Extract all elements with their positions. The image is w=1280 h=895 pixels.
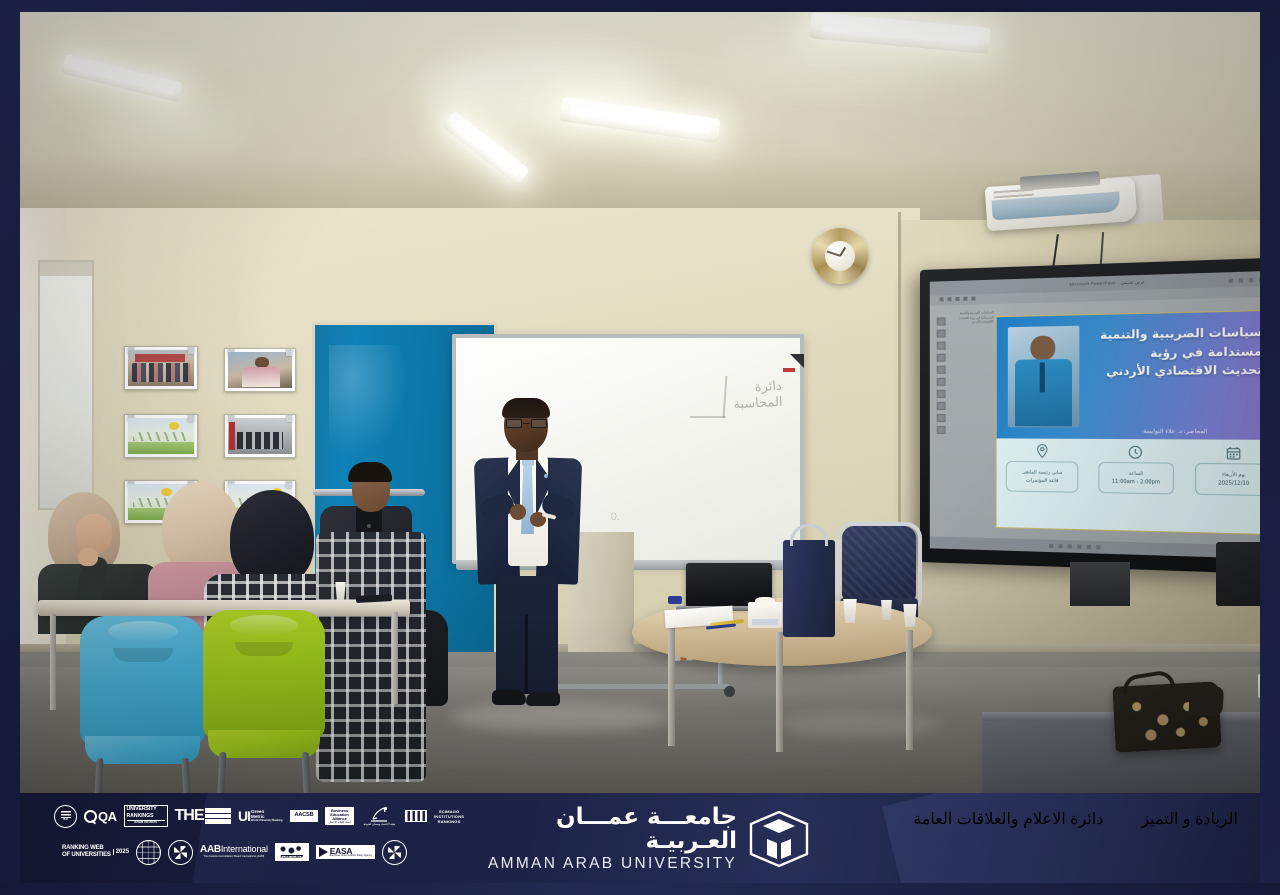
slide-info-time: الساعة 11:00am - 2:00pm: [1093, 444, 1179, 495]
table-leg: [668, 626, 675, 746]
lecture-title-slide: السياسات الضريبية والتنمية المستدامة في …: [996, 310, 1260, 536]
classroom-photograph: دائرة المحاسبة 0.: [20, 12, 1260, 793]
accreditation-logo-strip: ISO QA UNIVERSITY RANKINGS ARAB REGION T…: [54, 799, 434, 877]
slide-info-label: يوم الأربعاء: [1222, 473, 1246, 481]
easa-logo: EASA European Union Aviation Safety Agen…: [316, 845, 375, 860]
qs-university-rankings-logo: UNIVERSITY RANKINGS ARAB REGION: [124, 805, 168, 827]
slide-title: السياسات الضريبية والتنمية المستدامة في …: [1088, 323, 1260, 382]
ranking-web-of-universities-logo: RANKING WEB OF UNIVERSITIES 2025: [62, 845, 129, 858]
wall-picture-frame: [224, 414, 296, 458]
slogan-group: دائرة الاعلام والعلاقات العامة الريادة و…: [913, 809, 1238, 829]
seated-student: [316, 532, 426, 782]
location-pin-icon: [1001, 443, 1084, 460]
navy-tote-bag: [783, 540, 835, 637]
application-status-bar[interactable]: [930, 536, 1260, 560]
globe-accreditation-logo: [136, 840, 161, 865]
iso-circle-logo: ISO: [54, 805, 77, 828]
university-logo-lockup: جامعـــة عمـــان العـربيـة AMMAN ARAB UN…: [488, 811, 808, 867]
desk-leg: [50, 614, 56, 710]
display-wall-mount: [1070, 562, 1130, 606]
slogan-text: الريادة و التميز: [1141, 809, 1238, 829]
wall-clock-icon: [812, 228, 868, 284]
wall-picture-frame: [224, 348, 296, 392]
quality-badge-logo: [382, 840, 407, 865]
wall-picture-frame: [124, 414, 198, 458]
chair-green[interactable]: [203, 610, 325, 793]
slide-info-value: 11:00am - 2:00pm: [1112, 480, 1160, 486]
slide-info-value: 2025/12/10: [1218, 481, 1249, 487]
slide-info-value: قاعة المؤتمرات: [1026, 478, 1058, 484]
cube-logo: [747, 809, 811, 869]
business-education-alliance-logo: Business Education Alliance اتحاد كليات …: [325, 807, 353, 826]
slide-info-box: يوم الأربعاء 2025/12/10: [1194, 463, 1260, 496]
slide-info-date: يوم الأربعاء 2025/12/10: [1189, 444, 1260, 497]
desk-clip: [668, 596, 682, 604]
slide-hero-band: السياسات الضريبية والتنمية المستدامة في …: [997, 311, 1260, 441]
department-label: دائرة الاعلام والعلاقات العامة: [913, 809, 1103, 829]
table-leg: [776, 632, 783, 752]
qa-logo: QA: [84, 810, 117, 823]
slide-lecturer-line: المحاضر: د. علاء النوايسة: [1088, 428, 1260, 435]
wall-mounted-projector: [986, 172, 1174, 240]
whiteboard-marker: [783, 368, 795, 372]
calendar-icon: [1189, 444, 1260, 462]
university-name-english: AMMAN ARAB UNIVERSITY: [488, 855, 737, 873]
whiteboard-caster-wheel: [724, 686, 735, 697]
aab-international-logo: AAB International The Aviation Accredita…: [200, 845, 268, 858]
display-screen[interactable]: Microsoft PowerPoint - عرض تقديمي السياس…: [930, 270, 1260, 560]
whiteboard-note-line: المحاسبة: [733, 395, 783, 414]
wall-picture-frame: [124, 346, 198, 390]
slide-info-location: مباني رئيسة الملتقى قاعة المؤتمرات: [1001, 443, 1084, 493]
whiteboard-faint-mark: 0.: [611, 511, 620, 523]
ecbe-logo: ECBE-ACBSP: [275, 843, 309, 861]
quality-seal-logo: هيئة الاعتماد وضمان الجودة: [361, 804, 398, 828]
leopard-print-handbag: [1112, 681, 1221, 752]
rosette-accreditation-logo: [168, 840, 193, 865]
hijab: [230, 490, 314, 586]
presentation-application[interactable]: Microsoft PowerPoint - عرض تقديمي السياس…: [930, 270, 1260, 560]
scimago-institutions-rankings-logo: SCIMAGO INSTITUTIONS RANKINGS: [434, 809, 464, 824]
university-name-arabic: جامعـــة عمـــان العـربيـة: [488, 805, 737, 853]
interactive-flat-panel-display[interactable]: Microsoft PowerPoint - عرض تقديمي السياس…: [920, 270, 1260, 562]
window-blind: [40, 262, 92, 276]
ui-greenmetric-logo: UI Green Metric World University Ranking: [238, 809, 283, 824]
whiteboard-magnet-icon: [790, 354, 804, 368]
footer-brand-bar: ISO QA UNIVERSITY RANKINGS ARAB REGION T…: [20, 793, 1260, 883]
display-bezel: Microsoft PowerPoint - عرض تقديمي السياس…: [920, 257, 1260, 576]
tissue-box: [748, 602, 782, 628]
table-leg: [906, 630, 913, 750]
slide-thumbnail-caption: السياسات الضريبية والتنمية المستدامة في …: [950, 310, 994, 325]
slide-info-label: مباني رئيسة الملتقى: [1022, 470, 1063, 478]
desk-leg: [392, 612, 398, 704]
slide-title-line: المستدامة في رؤية: [1088, 342, 1260, 364]
window-controls[interactable]: [1229, 277, 1260, 283]
eyeglasses-icon: [506, 419, 547, 428]
chair-blue[interactable]: [80, 616, 205, 793]
clock-icon: [1093, 444, 1179, 462]
lapel-pin: [544, 474, 548, 478]
slide-info-box: مباني رئيسة الملتقى قاعة المؤتمرات: [1006, 461, 1079, 493]
screenshot-frame: دائرة المحاسبة 0.: [0, 0, 1280, 895]
window: [38, 260, 94, 510]
lecturer-portrait: [1007, 325, 1079, 427]
pillars-logo: [405, 810, 427, 822]
wall-power-socket: [1258, 674, 1260, 698]
presenter-person: [468, 400, 588, 720]
slide-info-label: الساعة: [1129, 472, 1143, 479]
ceiling-glow: [90, 98, 240, 158]
floor-reflection: [780, 712, 940, 738]
slide-info-row: مباني رئيسة الملتقى قاعة المؤتمرات: [997, 439, 1260, 534]
whiteboard-note: دائرة المحاسبة: [732, 379, 783, 414]
slide-title-line: التحديث الاقتصادي الأردني: [1088, 361, 1260, 382]
bottom-strip: [0, 883, 1280, 895]
slide-title-line: السياسات الضريبية والتنمية: [1088, 323, 1260, 345]
aacsb-logo: AACSB: [290, 810, 319, 822]
slide-info-box: الساعة 11:00am - 2:00pm: [1098, 462, 1174, 495]
slide-thumbnail-rail[interactable]: [934, 317, 948, 526]
secondary-monitor: [1216, 542, 1260, 606]
the-times-higher-education-logo: THE: [175, 808, 232, 824]
